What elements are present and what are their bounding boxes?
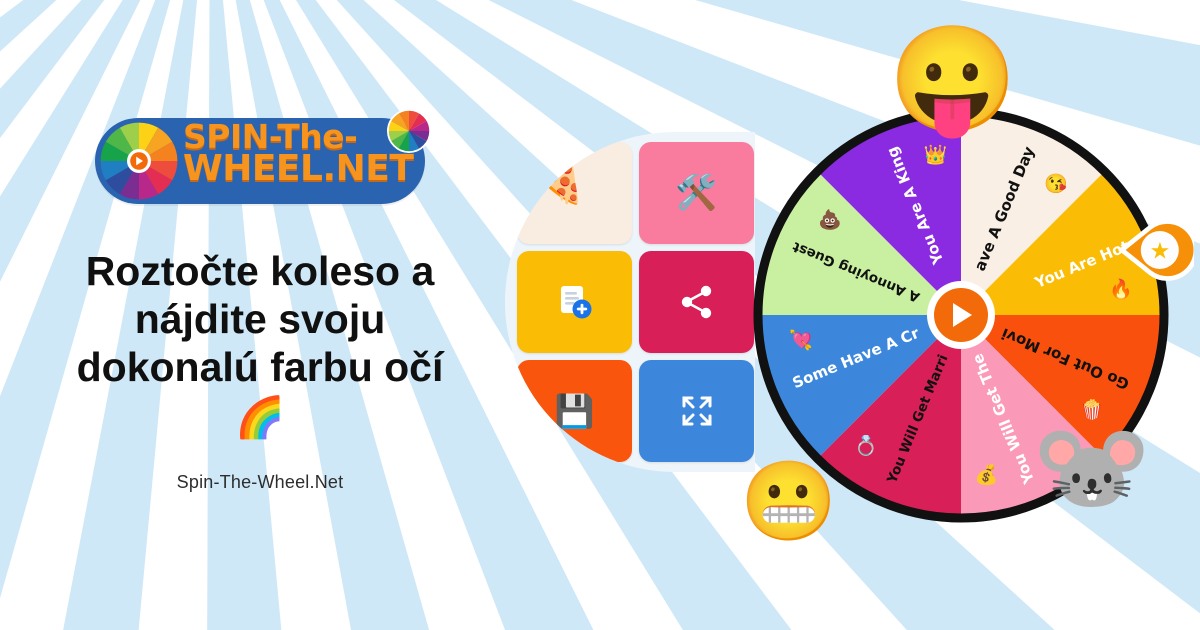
fullscreen-tile[interactable] [639,360,754,462]
money-bag-emoji: 💰 [975,463,999,486]
logo-wordmark: SPIN-The- WHEEL.NET [183,122,421,185]
woozy-face-emoji: 😬 [740,462,837,540]
customize-tile[interactable]: 🛠️ [639,142,754,244]
site-name-footer: Spin-The-Wheel.Net [177,472,344,493]
new-wheel-tile[interactable] [517,251,632,353]
tongue-face-emoji: 😛 [888,28,1018,132]
star-pointer-icon: ★ [1118,212,1194,288]
star-glyph: ★ [1150,238,1170,264]
poster-canvas: SPIN-The- WHEEL.NET Roztočte koleso a ná… [0,0,1200,630]
floppy-disk-emoji: 💾 [555,392,595,430]
rainbow-emoji: 🌈 [235,398,285,438]
poop-emoji: 💩 [818,208,842,231]
pizza-emoji: 🍕 [530,152,587,207]
fullscreen-icon [677,391,717,431]
tools-pencil-emoji: 🛠️ [675,173,717,213]
pizza-tile[interactable]: 🍕 [517,142,632,244]
color-wheel-icon [99,121,179,201]
page-title: Roztočte koleso a nájdite svoju dokonalú… [40,248,480,392]
heart-arrow-emoji: 💘 [789,328,813,351]
logo-line-2: WHEEL.NET [183,152,421,185]
share-tile[interactable] [639,251,754,353]
crown-emoji: 👑 [924,144,948,166]
new-document-icon [552,279,598,325]
share-icon [677,282,717,322]
mouse-emoji: 🐭 [1032,420,1152,516]
ring-emoji: 💍 [854,434,878,457]
kissing-heart-emoji: 😘 [1044,173,1068,195]
left-content-column: SPIN-The- WHEEL.NET Roztočte koleso a ná… [0,118,520,493]
site-logo[interactable]: SPIN-The- WHEEL.NET [95,118,425,204]
